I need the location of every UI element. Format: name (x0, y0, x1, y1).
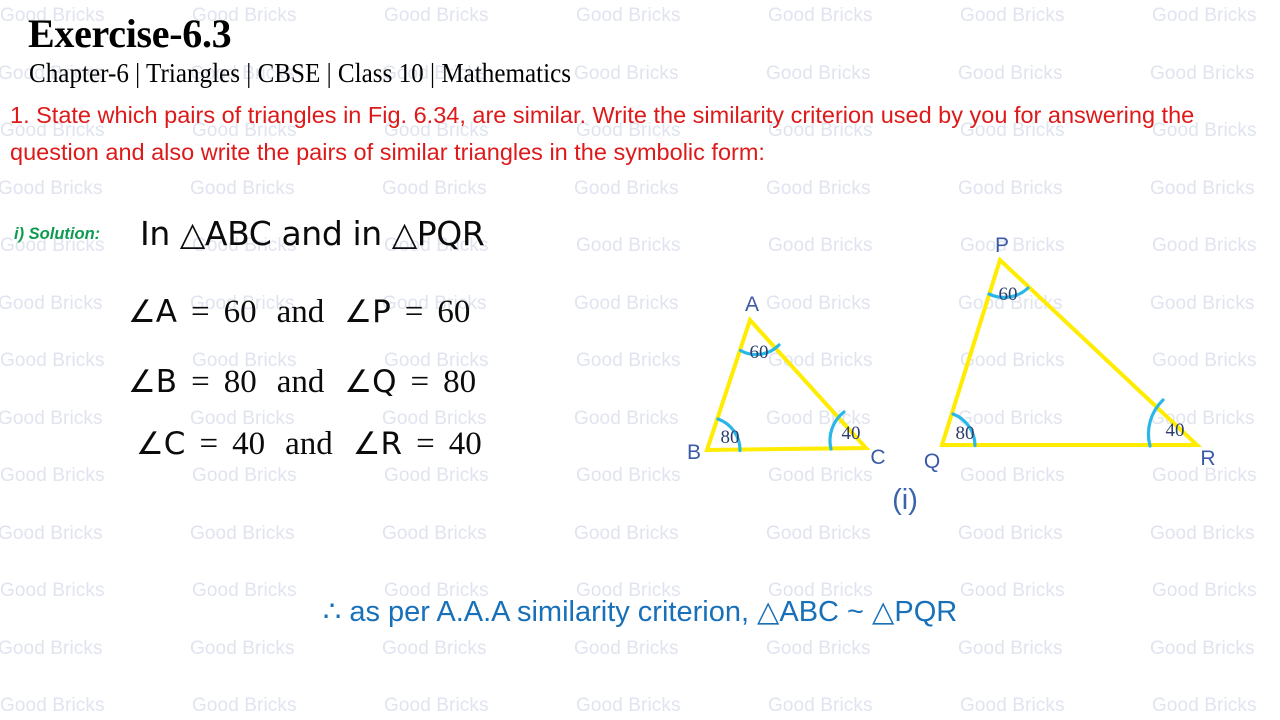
triangle-pqr-outline (942, 260, 1197, 445)
vertex-label-c: C (870, 446, 885, 469)
angle-label-a: 60 (750, 342, 769, 363)
angle-arc-r (1148, 400, 1163, 446)
figure-triangles: 60 80 40 A B C 60 80 (660, 230, 1270, 530)
conjunction-a: and (277, 294, 325, 330)
equation-row-a: ∠A=60and∠P=60 (128, 294, 470, 331)
triangles-svg: 60 80 40 A B C 60 80 (660, 230, 1270, 530)
angle-symbol-r: ∠R (353, 426, 402, 462)
angle-label-p: 60 (999, 284, 1018, 305)
vertex-label-p: P (995, 234, 1009, 257)
equals-c: = (199, 426, 218, 462)
figure-caption: (i) (860, 484, 950, 517)
equation-row-b: ∠B=80and∠Q=80 (128, 364, 476, 401)
equation-row-c: ∠C=40and∠R=40 (136, 426, 482, 463)
angle-value-q: 80 (443, 364, 476, 400)
slide-page: Good BricksGood BricksGood BricksGood Br… (0, 0, 1280, 720)
angle-value-c: 40 (232, 426, 265, 462)
equals-r: = (416, 426, 435, 462)
angle-label-c: 40 (842, 423, 861, 444)
angle-value-a: 60 (224, 294, 257, 330)
angle-value-r: 40 (449, 426, 482, 462)
angle-label-b: 80 (721, 427, 740, 448)
vertex-label-r: R (1200, 447, 1215, 470)
angle-label-q: 80 (956, 423, 975, 444)
angle-symbol-c: ∠C (136, 426, 185, 462)
page-subtitle: Chapter-6 | Triangles | CBSE | Class 10 … (29, 58, 571, 89)
solution-intro-line: In △ABC and in △PQR (140, 214, 484, 253)
content-layer: Exercise-6.3 Chapter-6 | Triangles | CBS… (0, 0, 1280, 720)
equals-a: = (191, 294, 210, 330)
solution-label: i) Solution: (14, 225, 100, 244)
angle-value-p: 60 (437, 294, 470, 330)
vertex-label-a: A (745, 293, 759, 316)
angle-value-b: 80 (224, 364, 257, 400)
conclusion-text: ∴ as per A.A.A similarity criterion, △AB… (0, 594, 1280, 629)
equals-p: = (405, 294, 424, 330)
triangle-abc: 60 80 40 A B C (687, 293, 886, 469)
conjunction-b: and (277, 364, 325, 400)
angle-symbol-p: ∠P (344, 294, 391, 330)
angle-symbol-b: ∠B (128, 364, 177, 400)
equals-b: = (191, 364, 210, 400)
angle-symbol-a: ∠A (128, 294, 177, 330)
angle-label-r: 40 (1166, 420, 1185, 441)
angle-symbol-q: ∠Q (344, 364, 396, 400)
page-title: Exercise-6.3 (28, 10, 231, 57)
conjunction-c: and (285, 426, 333, 462)
equals-q: = (411, 364, 430, 400)
vertex-label-q: Q (924, 450, 940, 473)
question-text: 1. State which pairs of triangles in Fig… (10, 97, 1225, 171)
vertex-label-b: B (687, 441, 701, 464)
triangle-pqr: 60 80 40 P Q R (924, 234, 1216, 473)
